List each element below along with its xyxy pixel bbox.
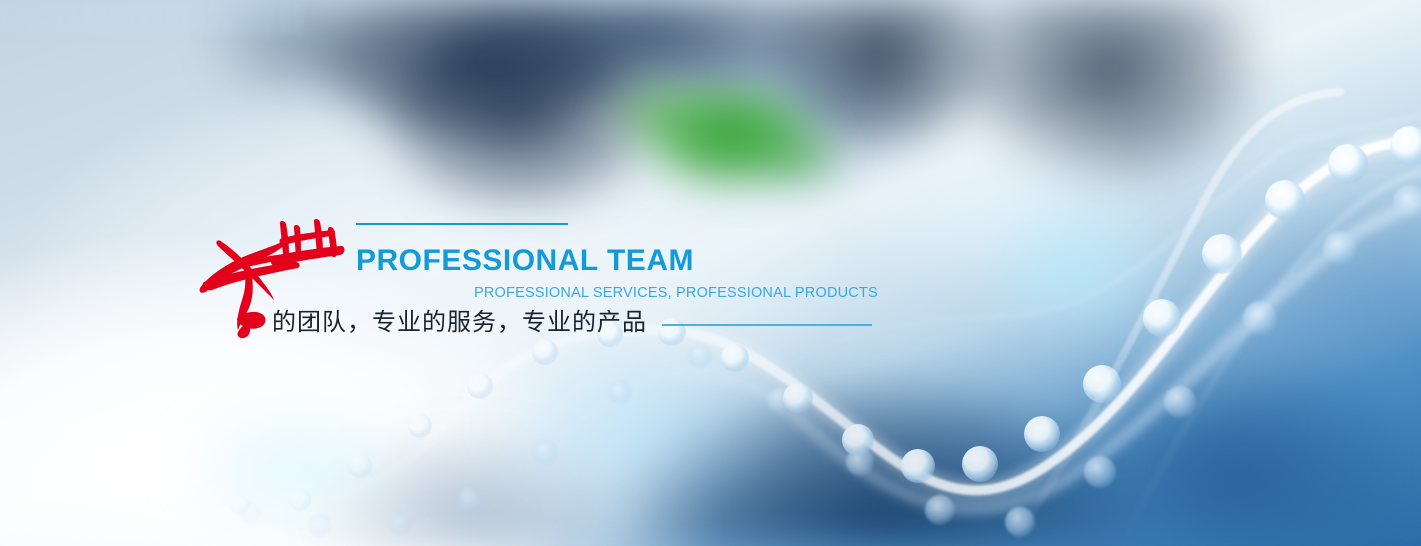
decorative-rule-bottom: [662, 324, 872, 326]
banner-subtitle-cn: 的团队，专业的服务，专业的产品: [272, 308, 647, 338]
banner-title-en: PROFESSIONAL TEAM: [356, 246, 694, 276]
decorative-rule-top: [356, 223, 568, 225]
banner-subtitle-en: PROFESSIONAL SERVICES, PROFESSIONAL PROD…: [474, 286, 878, 301]
banner-content: PROFESSIONAL TEAM PROFESSIONAL SERVICES,…: [0, 0, 1421, 546]
hero-banner: PROFESSIONAL TEAM PROFESSIONAL SERVICES,…: [0, 0, 1421, 546]
